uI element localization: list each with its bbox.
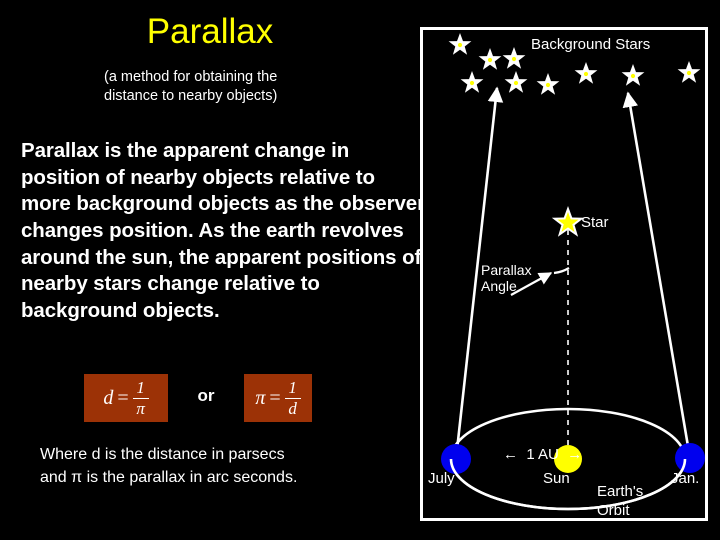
page-subtitle: (a method for obtaining the distance to … (104, 68, 404, 106)
formula-distance-box: d = 1 π (84, 374, 168, 422)
formula-right-denominator: d (285, 400, 300, 417)
background-star (575, 62, 598, 84)
label-one-au: ← 1 AU → (503, 446, 582, 463)
background-star (503, 47, 526, 69)
formula-note: Where d is the distance in parsecs and π… (40, 444, 410, 489)
label-earths-orbit: Earth's Orbit (597, 483, 643, 521)
label-parallax-angle: Parallax Angle (481, 262, 532, 294)
sight-line-january (628, 93, 690, 458)
formula-right-lhs: π (255, 388, 265, 408)
label-january: Jan. (671, 470, 699, 487)
slide-parallax: Parallax (a method for obtaining the dis… (0, 0, 720, 540)
background-star (537, 73, 560, 95)
formula-right-numerator: 1 (285, 379, 300, 396)
background-star (479, 48, 502, 70)
formula-row: d = 1 π or π = 1 d (84, 374, 324, 422)
formula-distance: d = 1 π (103, 379, 148, 417)
label-background-stars: Background Stars (531, 36, 650, 53)
formula-left-denominator: π (133, 400, 148, 417)
formula-right-operator: = (269, 388, 280, 408)
label-star: Star (581, 214, 609, 231)
background-star (449, 33, 472, 55)
formula-left-operator: = (117, 388, 128, 408)
formula-parallax: π = 1 d (255, 379, 300, 417)
background-star (622, 64, 645, 86)
formula-conjunction: or (180, 386, 232, 406)
body-paragraph: Parallax is the apparent change in posit… (21, 138, 425, 324)
formula-left-fraction: 1 π (133, 379, 149, 417)
background-star (461, 71, 484, 93)
formula-parallax-box: π = 1 d (244, 374, 312, 422)
formula-left-numerator: 1 (133, 379, 148, 396)
parallax-diagram-panel: Background Stars Star Parallax Angle ← 1… (420, 27, 708, 521)
formula-left-lhs: d (103, 388, 113, 408)
earth-january-marker (675, 443, 705, 473)
formula-right-fraction: 1 d (285, 379, 301, 417)
parallax-angle-arc (554, 268, 569, 273)
label-july: July (428, 470, 455, 487)
label-sun: Sun (543, 470, 570, 487)
background-star (678, 61, 701, 83)
page-title: Parallax (0, 14, 420, 51)
background-star (505, 71, 528, 93)
